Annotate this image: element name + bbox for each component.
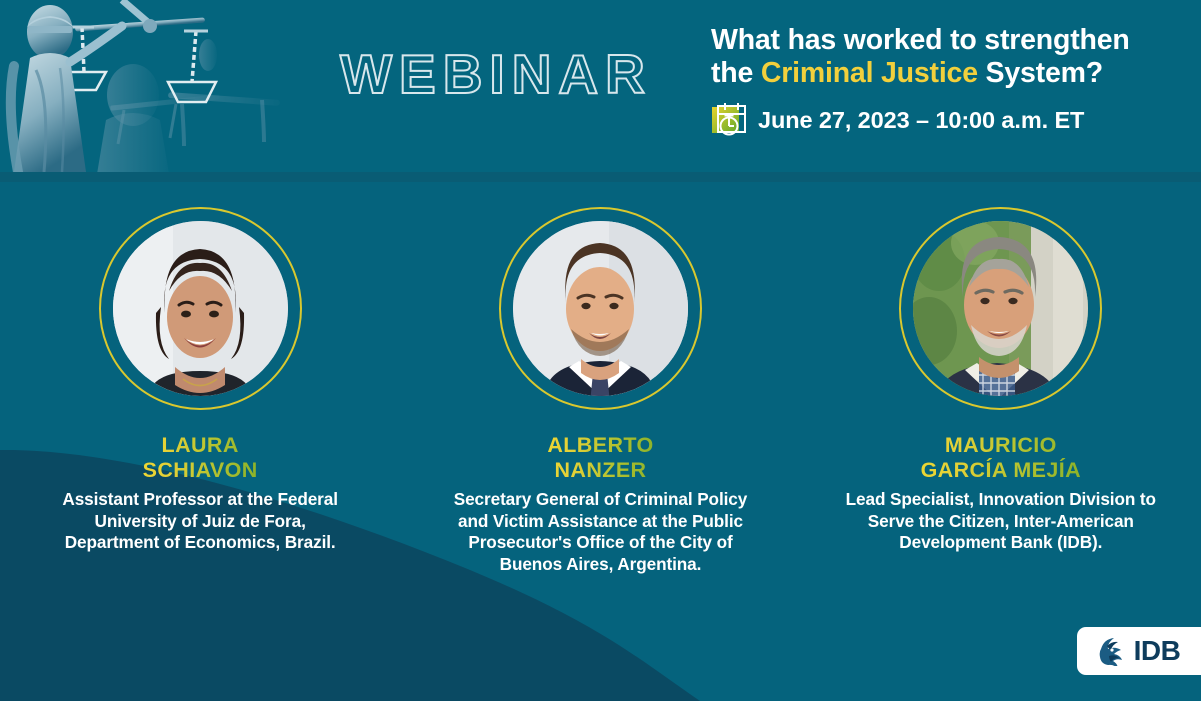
title-line-1: What has worked to strengthen	[711, 24, 1181, 57]
speaker-photo	[513, 221, 688, 396]
idb-logo[interactable]: IDB	[1077, 627, 1201, 675]
speaker-description: Lead Specialist, Innovation Division to …	[825, 489, 1177, 554]
avatar	[499, 207, 702, 410]
title-prefix: the	[711, 57, 761, 89]
speaker-card: ALBERTO NANZER Secretary General of Crim…	[400, 182, 800, 701]
speaker-description: Secretary General of Criminal Policy and…	[439, 489, 761, 575]
speaker-name: LAURA SCHIAVON	[143, 433, 258, 483]
speaker-card: LAURA SCHIAVON Assistant Professor at th…	[0, 182, 400, 701]
date-row: June 27, 2023 – 10:00 a.m. ET	[711, 102, 1181, 138]
speaker-card: MAURICIO GARCÍA MEJÍA Lead Specialist, I…	[801, 182, 1201, 701]
title-line-2: the Criminal Justice System?	[711, 57, 1181, 90]
speaker-name: ALBERTO NANZER	[547, 433, 653, 483]
avatar	[899, 207, 1102, 410]
idb-logo-text: IDB	[1134, 637, 1181, 665]
idb-globe-icon	[1098, 636, 1128, 666]
title-accent-criminal-justice: Criminal Justice	[761, 57, 978, 89]
speaker-photo	[113, 221, 288, 396]
header-divider	[0, 172, 1201, 182]
speaker-description: Assistant Professor at the Federal Unive…	[55, 489, 345, 554]
webinar-poster: WEBINAR What has worked to strengthen th…	[0, 0, 1201, 701]
webinar-date: June 27, 2023 – 10:00 a.m. ET	[758, 107, 1084, 134]
speakers-row: LAURA SCHIAVON Assistant Professor at th…	[0, 182, 1201, 701]
calendar-clock-icon	[711, 102, 747, 138]
title-block: What has worked to strengthen the Crimin…	[711, 24, 1181, 138]
title-suffix: System?	[978, 57, 1103, 89]
webinar-eyebrow: WEBINAR	[316, 47, 676, 102]
avatar	[99, 207, 302, 410]
speaker-name: MAURICIO GARCÍA MEJÍA	[921, 433, 1082, 483]
speaker-photo	[913, 221, 1088, 396]
lady-justice-icon	[0, 0, 290, 172]
